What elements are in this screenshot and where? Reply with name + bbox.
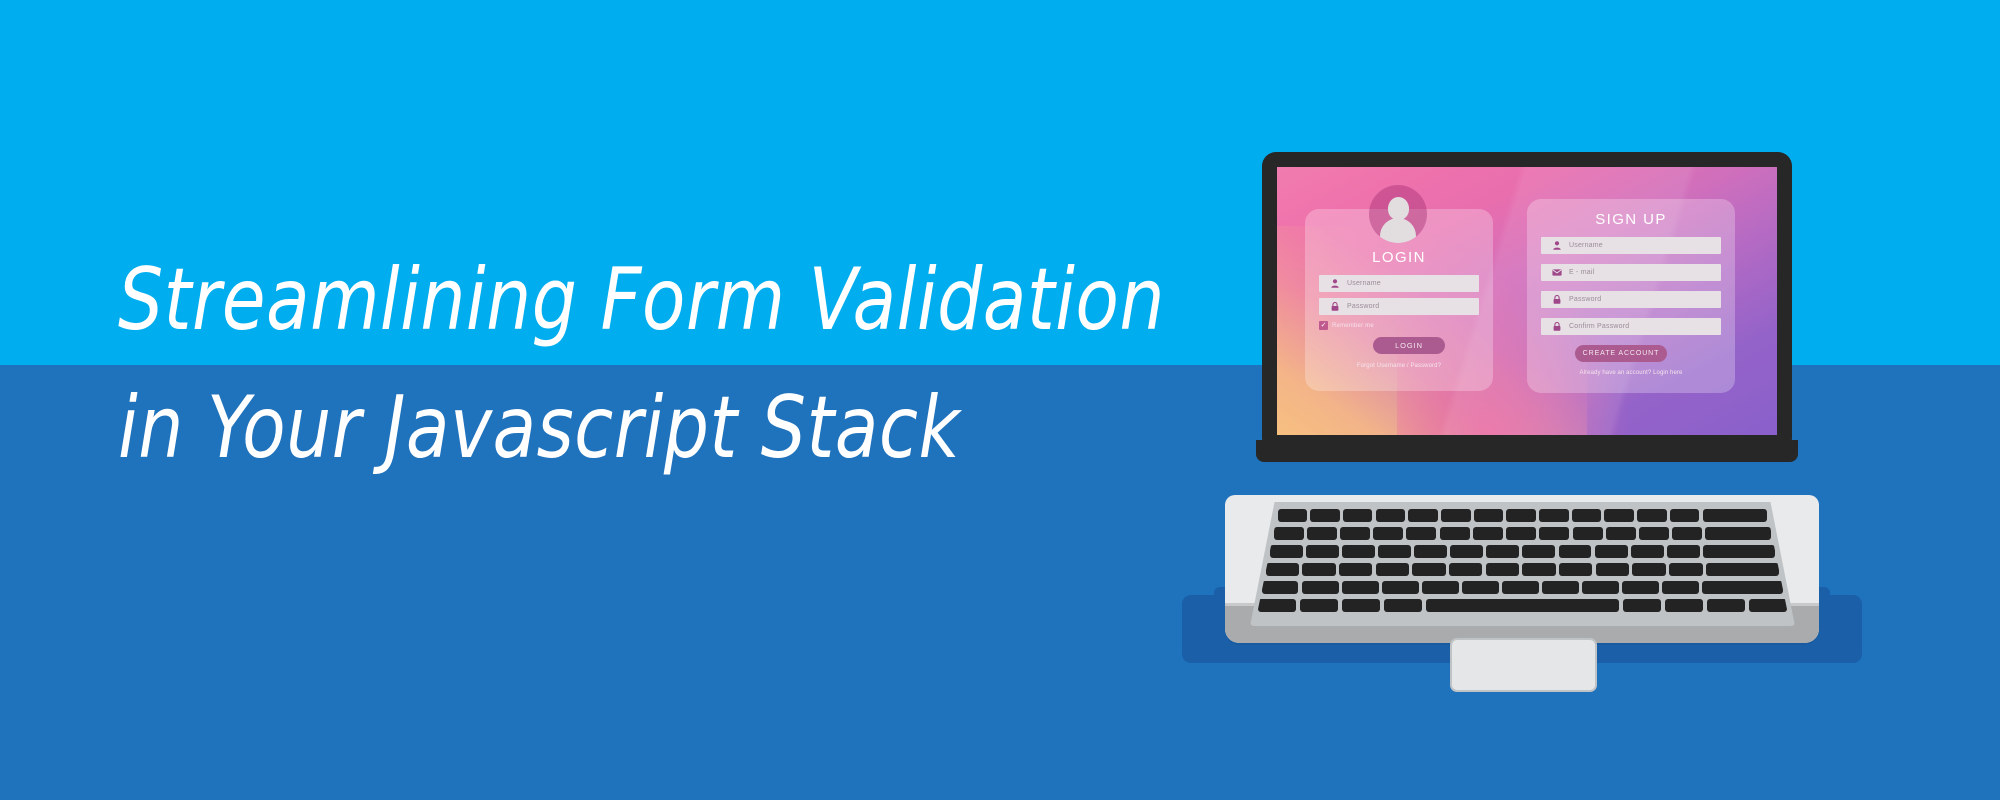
keyboard-key[interactable] bbox=[1506, 509, 1536, 522]
keyboard-key[interactable] bbox=[1669, 563, 1702, 576]
signup-confirm-password-placeholder: Confirm Password bbox=[1569, 323, 1629, 330]
keyboard-key[interactable] bbox=[1539, 527, 1569, 540]
signup-username-placeholder: Username bbox=[1569, 242, 1603, 249]
forgot-credentials-link[interactable]: Forgot Username / Password? bbox=[1319, 363, 1479, 369]
keyboard-key[interactable] bbox=[1274, 527, 1304, 540]
keyboard-key[interactable] bbox=[1522, 563, 1555, 576]
keyboard-key[interactable] bbox=[1573, 527, 1603, 540]
already-have-account-link[interactable]: Already have an account? Login here bbox=[1541, 370, 1721, 376]
keyboard-key[interactable] bbox=[1572, 509, 1602, 522]
keyboard-key[interactable] bbox=[1637, 509, 1667, 522]
keyboard-key[interactable] bbox=[1450, 545, 1483, 558]
keyboard-key[interactable] bbox=[1384, 599, 1423, 612]
user-avatar-icon bbox=[1369, 185, 1427, 243]
keyboard-key[interactable] bbox=[1596, 563, 1629, 576]
signup-email-placeholder: E - mail bbox=[1569, 269, 1594, 276]
keyboard-key[interactable] bbox=[1462, 581, 1499, 594]
keyboard-key[interactable] bbox=[1376, 563, 1409, 576]
keyboard-key[interactable] bbox=[1622, 581, 1659, 594]
keyboard-key[interactable] bbox=[1449, 563, 1482, 576]
banner: Streamlining Form Validation in Your Jav… bbox=[0, 0, 2000, 800]
login-username-field[interactable]: Username bbox=[1319, 275, 1479, 292]
lock-icon bbox=[1548, 322, 1565, 331]
keyboard-key[interactable] bbox=[1639, 527, 1669, 540]
keyboard-key[interactable] bbox=[1502, 581, 1539, 594]
keyboard-row bbox=[1272, 527, 1773, 540]
create-account-button[interactable]: CREATE ACCOUNT bbox=[1575, 345, 1667, 362]
user-icon bbox=[1326, 279, 1343, 288]
signup-username-field[interactable]: Username bbox=[1541, 237, 1721, 254]
keyboard-key[interactable] bbox=[1376, 509, 1406, 522]
keyboard-key[interactable] bbox=[1343, 509, 1373, 522]
keyboard-key[interactable] bbox=[1342, 545, 1375, 558]
keyboard-key[interactable] bbox=[1440, 527, 1470, 540]
login-username-placeholder: Username bbox=[1347, 280, 1381, 287]
keyboard-key[interactable] bbox=[1749, 599, 1788, 612]
keyboard bbox=[1256, 507, 1789, 619]
lock-icon bbox=[1548, 295, 1565, 304]
keyboard-key[interactable] bbox=[1473, 527, 1503, 540]
keyboard-key[interactable] bbox=[1340, 527, 1370, 540]
keyboard-row bbox=[1256, 599, 1789, 612]
keyboard-key[interactable] bbox=[1506, 527, 1536, 540]
signup-password-placeholder: Password bbox=[1569, 296, 1601, 303]
keyboard-key[interactable] bbox=[1670, 509, 1700, 522]
signup-title: SIGN UP bbox=[1527, 211, 1735, 228]
keyboard-key[interactable] bbox=[1278, 509, 1308, 522]
mail-icon bbox=[1548, 269, 1565, 276]
keyboard-key[interactable] bbox=[1373, 527, 1403, 540]
login-title: LOGIN bbox=[1305, 249, 1493, 266]
keyboard-key[interactable] bbox=[1310, 509, 1340, 522]
keyboard-key[interactable] bbox=[1307, 527, 1337, 540]
remember-me-row[interactable]: ✓ Remember me bbox=[1319, 321, 1374, 330]
laptop-screen: LOGIN Username bbox=[1277, 167, 1777, 435]
login-password-field[interactable]: Password bbox=[1319, 298, 1479, 315]
signup-password-field[interactable]: Password bbox=[1541, 291, 1721, 308]
keyboard-key[interactable] bbox=[1382, 581, 1419, 594]
keyboard-key[interactable] bbox=[1441, 509, 1471, 522]
keyboard-key[interactable] bbox=[1703, 545, 1775, 558]
avatar-body bbox=[1380, 218, 1416, 243]
keyboard-key[interactable] bbox=[1606, 527, 1636, 540]
keyboard-key[interactable] bbox=[1302, 581, 1339, 594]
keyboard-key[interactable] bbox=[1539, 509, 1569, 522]
keyboard-key[interactable] bbox=[1342, 581, 1379, 594]
keyboard-key[interactable] bbox=[1667, 545, 1700, 558]
keyboard-row bbox=[1268, 545, 1777, 558]
keyboard-key[interactable] bbox=[1266, 563, 1299, 576]
keyboard-key[interactable] bbox=[1262, 581, 1299, 594]
keyboard-key[interactable] bbox=[1706, 563, 1780, 576]
keyboard-key[interactable] bbox=[1486, 563, 1519, 576]
trackpad[interactable] bbox=[1450, 638, 1597, 692]
keyboard-key[interactable] bbox=[1559, 545, 1592, 558]
keyboard-key[interactable] bbox=[1258, 599, 1297, 612]
keyboard-key[interactable] bbox=[1422, 581, 1459, 594]
keyboard-row bbox=[1264, 563, 1781, 576]
keyboard-key[interactable] bbox=[1412, 563, 1445, 576]
keyboard-key[interactable] bbox=[1542, 581, 1579, 594]
keyboard-key[interactable] bbox=[1672, 527, 1702, 540]
keyboard-key[interactable] bbox=[1707, 599, 1746, 612]
login-password-placeholder: Password bbox=[1347, 303, 1379, 310]
keyboard-key[interactable] bbox=[1408, 509, 1438, 522]
keyboard-key[interactable] bbox=[1595, 545, 1628, 558]
keyboard-row bbox=[1260, 581, 1785, 594]
keyboard-key[interactable] bbox=[1414, 545, 1447, 558]
signup-confirm-password-field[interactable]: Confirm Password bbox=[1541, 318, 1721, 335]
keyboard-row bbox=[1276, 509, 1769, 522]
keyboard-key[interactable] bbox=[1378, 545, 1411, 558]
keyboard-key[interactable] bbox=[1632, 563, 1665, 576]
keyboard-key[interactable] bbox=[1702, 581, 1783, 594]
keyboard-key[interactable] bbox=[1623, 599, 1662, 612]
keyboard-key[interactable] bbox=[1302, 563, 1335, 576]
keyboard-key[interactable] bbox=[1582, 581, 1619, 594]
keyboard-key[interactable] bbox=[1300, 599, 1339, 612]
keyboard-key[interactable] bbox=[1339, 563, 1372, 576]
avatar-head bbox=[1388, 197, 1409, 220]
keyboard-key[interactable] bbox=[1703, 509, 1768, 522]
keyboard-key[interactable] bbox=[1270, 545, 1303, 558]
screen-content: LOGIN Username bbox=[1277, 167, 1777, 435]
lock-icon bbox=[1326, 302, 1343, 311]
keyboard-key[interactable] bbox=[1474, 509, 1504, 522]
keyboard-key[interactable] bbox=[1662, 581, 1699, 594]
laptop-illustration: LOGIN Username bbox=[1160, 140, 1880, 670]
keyboard-key[interactable] bbox=[1559, 563, 1592, 576]
keyboard-key[interactable] bbox=[1631, 545, 1664, 558]
keyboard-key[interactable] bbox=[1522, 545, 1555, 558]
keyboard-key[interactable] bbox=[1342, 599, 1381, 612]
keyboard-key[interactable] bbox=[1406, 527, 1436, 540]
user-icon bbox=[1548, 241, 1565, 250]
keyboard-key[interactable] bbox=[1705, 527, 1771, 540]
remember-me-label: Remember me bbox=[1332, 323, 1374, 329]
keyboard-key[interactable] bbox=[1604, 509, 1634, 522]
keyboard-key[interactable] bbox=[1486, 545, 1519, 558]
keyboard-key[interactable] bbox=[1426, 599, 1620, 612]
remember-me-checkbox[interactable]: ✓ bbox=[1319, 321, 1328, 330]
keyboard-key[interactable] bbox=[1306, 545, 1339, 558]
login-button[interactable]: LOGIN bbox=[1373, 337, 1445, 354]
keyboard-key[interactable] bbox=[1665, 599, 1704, 612]
signup-email-field[interactable]: E - mail bbox=[1541, 264, 1721, 281]
